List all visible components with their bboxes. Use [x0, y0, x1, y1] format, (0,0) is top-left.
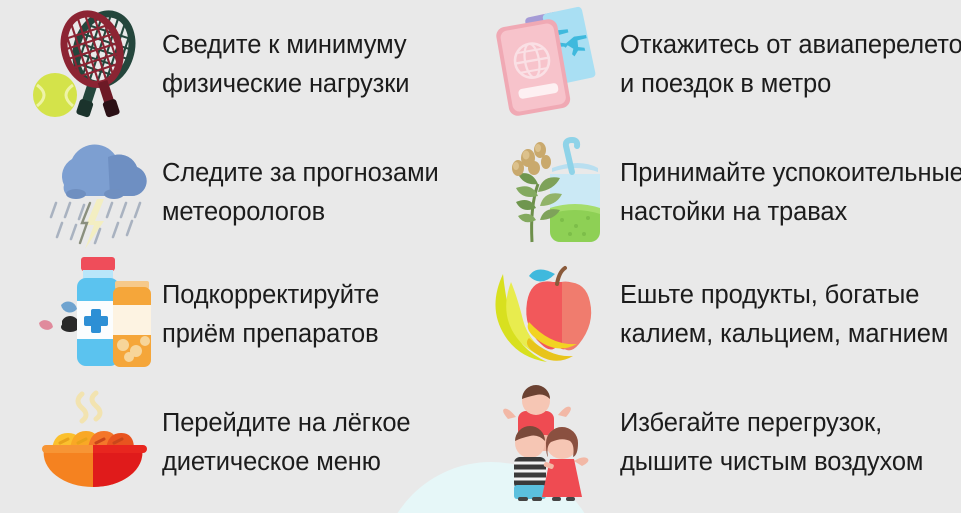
tip-item: Подкорректируйте приём препаратов	[0, 256, 480, 373]
tip-text: Следите за прогнозами метеорологов	[162, 154, 439, 232]
tip-text: Принимайте успокоительные настойки на тр…	[620, 154, 961, 232]
tip-item: Следите за прогнозами метеорологов	[0, 130, 480, 256]
tip-item: Избегайте перегрузок, дышите чистым возд…	[480, 373, 961, 513]
tip-item: Сведите к минимуму физические нагрузки	[0, 0, 480, 130]
tip-line-2: дышите чистым воздухом	[620, 443, 923, 482]
tip-text: Ешьте продукты, богатые калием, кальцием…	[620, 276, 948, 354]
passport-and-plane-tickets-icon	[480, 6, 620, 124]
tip-line-2: приём препаратов	[162, 315, 379, 354]
tip-text: Перейдите на лёгкое диетическое меню	[162, 404, 411, 482]
tip-line-1: Сведите к минимуму	[162, 31, 406, 59]
tip-text: Подкорректируйте приём препаратов	[162, 276, 379, 354]
tip-line-1: Следите за прогнозами	[162, 159, 439, 187]
tip-text: Избегайте перегрузок, дышите чистым возд…	[620, 404, 923, 482]
herbs-and-jar-drink-icon	[480, 134, 620, 252]
tip-line-1: Подкорректируйте	[162, 281, 379, 309]
tip-line-1: Перейдите на лёгкое	[162, 409, 411, 437]
tip-line-2: физические нагрузки	[162, 65, 409, 104]
tip-line-2: настойки на травах	[620, 193, 961, 232]
tip-line-1: Избегайте перегрузок,	[620, 409, 882, 437]
three-children-playing-icon	[480, 384, 620, 502]
tip-text: Откажитесь от авиаперелетов и поездок в …	[620, 26, 961, 104]
tip-item: Перейдите на лёгкое диетическое меню	[0, 373, 480, 513]
tip-line-1: Ешьте продукты, богатые	[620, 281, 919, 309]
tip-line-2: и поездок в метро	[620, 65, 961, 104]
tip-line-2: метеорологов	[162, 193, 439, 232]
tip-line-1: Откажитесь от авиаперелетов	[620, 31, 961, 59]
steaming-bowl-of-food-icon	[22, 384, 162, 502]
bananas-and-apple-icon	[480, 256, 620, 374]
tip-line-2: диетическое меню	[162, 443, 411, 482]
tip-item: Принимайте успокоительные настойки на тр…	[480, 130, 961, 256]
medicine-bottles-and-pills-icon	[22, 256, 162, 374]
tip-line-1: Принимайте успокоительные	[620, 159, 961, 187]
tips-grid: Сведите к минимуму физические нагрузки	[0, 0, 961, 513]
tip-item: Откажитесь от авиаперелетов и поездок в …	[480, 0, 961, 130]
infographic-page: Сведите к минимуму физические нагрузки	[0, 0, 961, 513]
tip-item: Ешьте продукты, богатые калием, кальцием…	[480, 256, 961, 373]
tip-text: Сведите к минимуму физические нагрузки	[162, 26, 409, 104]
tip-line-2: калием, кальцием, магнием	[620, 315, 948, 354]
tennis-rackets-and-ball-icon	[22, 6, 162, 124]
rain-cloud-with-lightning-icon	[22, 134, 162, 252]
